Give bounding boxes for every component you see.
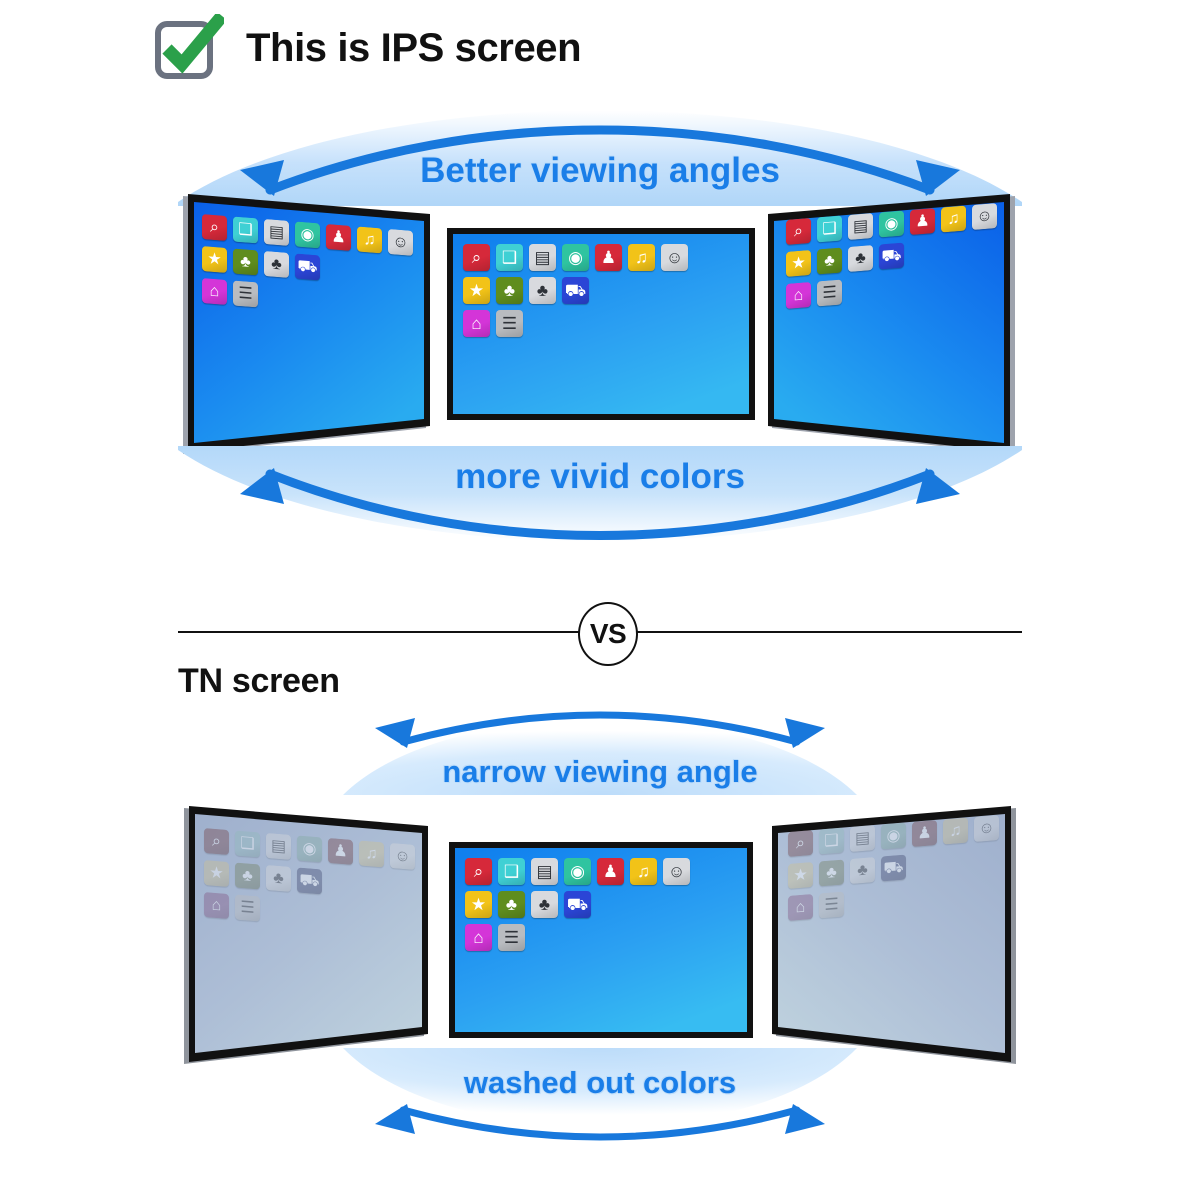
search-icon[interactable]: ⌕: [786, 218, 811, 245]
garden-icon-glyph: ♣: [506, 896, 517, 913]
music-icon[interactable]: ♫: [941, 206, 966, 233]
photos-icon[interactable]: ❑: [817, 215, 842, 242]
cart-icon[interactable]: ⛟: [881, 855, 906, 882]
notes-icon[interactable]: ☰: [819, 891, 844, 918]
cart-icon-glyph: ⛟: [567, 896, 588, 913]
music-icon-glyph: ♫: [364, 231, 376, 248]
ips-top-label: Better viewing angles: [0, 151, 1200, 191]
camera-icon[interactable]: ◉: [881, 823, 906, 850]
cart-icon[interactable]: ⛟: [564, 891, 591, 918]
calendar-icon-glyph: ▤: [269, 224, 284, 241]
photos-icon-glyph: ❑: [502, 249, 517, 266]
favorites-icon-glyph: ★: [791, 255, 805, 272]
tn-monitor-right: ⌕❑▤◉♟♫☺★♣♣⛟⌂☰: [768, 800, 1018, 1072]
cart-icon[interactable]: ⛟: [297, 867, 322, 894]
garden-icon-glyph: ♣: [824, 253, 835, 270]
calendar-icon-glyph: ▤: [271, 838, 286, 855]
photos-icon-glyph: ❑: [824, 832, 838, 849]
favorites-icon[interactable]: ★: [463, 277, 490, 304]
notes-icon-glyph: ☰: [824, 896, 838, 913]
infographic-canvas: This is IPS screen Better viewing angles: [0, 0, 1200, 1200]
cart-icon[interactable]: ⛟: [295, 253, 320, 280]
cart-icon-glyph: ⛟: [297, 258, 317, 276]
cart-icon-glyph: ⛟: [883, 859, 903, 877]
cart-icon-glyph: ⛟: [299, 872, 319, 890]
music-icon-glyph: ♫: [637, 863, 650, 880]
contacts-icon-glyph: ♟: [603, 863, 618, 880]
nature-icon-glyph: ♣: [855, 250, 866, 267]
favorites-icon[interactable]: ★: [204, 860, 229, 887]
contacts-icon[interactable]: ♟: [326, 224, 351, 251]
contacts-icon-glyph: ♟: [915, 213, 929, 230]
bank-icon[interactable]: ⌂: [463, 310, 490, 337]
camera-icon[interactable]: ◉: [297, 835, 322, 862]
favorites-icon-glyph: ★: [793, 867, 807, 884]
calendar-icon-glyph: ▤: [534, 249, 550, 266]
garden-icon[interactable]: ♣: [498, 891, 525, 918]
ips-monitor-left: ⌕❑▤◉♟♫☺★♣♣⛟⌂☰: [180, 190, 430, 458]
nature-icon[interactable]: ♣: [531, 891, 558, 918]
calendar-icon[interactable]: ▤: [529, 244, 556, 271]
cart-icon[interactable]: ⛟: [879, 243, 904, 270]
page-title: This is IPS screen: [246, 26, 581, 71]
nature-icon-glyph: ♣: [273, 870, 284, 887]
camera-icon-glyph: ◉: [887, 827, 901, 844]
photos-icon[interactable]: ❑: [235, 830, 260, 857]
photos-icon-glyph: ❑: [238, 221, 252, 238]
favorites-icon-glyph: ★: [207, 251, 221, 268]
search-icon[interactable]: ⌕: [788, 830, 813, 857]
tn-top-label: narrow viewing angle: [0, 754, 1200, 790]
bank-icon[interactable]: ⌂: [786, 282, 811, 309]
tn-section-title: TN screen: [178, 662, 340, 701]
photos-icon[interactable]: ❑: [819, 827, 844, 854]
contacts-icon[interactable]: ♟: [328, 838, 353, 865]
search-icon-glyph: ⌕: [794, 223, 803, 240]
photos-icon-glyph: ❑: [504, 863, 519, 880]
photos-icon[interactable]: ❑: [498, 858, 525, 885]
bank-icon-glyph: ⌂: [212, 897, 222, 914]
nature-icon-glyph: ♣: [271, 256, 282, 273]
nature-icon[interactable]: ♣: [848, 245, 873, 272]
music-icon-glyph: ♫: [948, 211, 960, 228]
bank-icon-glyph: ⌂: [471, 315, 481, 332]
nature-icon-glyph: ♣: [537, 282, 548, 299]
search-icon-glyph: ⌕: [472, 249, 482, 266]
nature-icon[interactable]: ♣: [266, 865, 291, 892]
notes-icon-glyph: ☰: [238, 285, 252, 302]
calendar-icon[interactable]: ▤: [531, 858, 558, 885]
garden-icon[interactable]: ♣: [233, 248, 258, 275]
search-icon[interactable]: ⌕: [204, 828, 229, 855]
favorites-icon[interactable]: ★: [786, 250, 811, 277]
profile-icon[interactable]: ☺: [388, 229, 413, 256]
music-icon-glyph: ♫: [950, 823, 962, 840]
search-icon[interactable]: ⌕: [465, 858, 492, 885]
favorites-icon[interactable]: ★: [202, 246, 227, 273]
music-icon-glyph: ♫: [366, 845, 378, 862]
profile-icon[interactable]: ☺: [661, 244, 688, 271]
music-icon-glyph: ♫: [635, 249, 648, 266]
photos-icon-glyph: ❑: [240, 835, 254, 852]
vs-badge: VS: [578, 602, 638, 666]
notes-icon[interactable]: ☰: [498, 924, 525, 951]
contacts-icon-glyph: ♟: [331, 229, 345, 246]
notes-icon[interactable]: ☰: [496, 310, 523, 337]
checkbox-checked-icon: [152, 14, 224, 82]
contacts-icon[interactable]: ♟: [910, 208, 935, 235]
calendar-icon[interactable]: ▤: [264, 219, 289, 246]
notes-icon-glyph: ☰: [502, 315, 517, 332]
profile-icon-glyph: ☺: [976, 208, 992, 225]
garden-icon-glyph: ♣: [242, 868, 253, 885]
tn-monitor-left: ⌕❑▤◉♟♫☺★♣♣⛟⌂☰: [182, 800, 430, 1072]
music-icon[interactable]: ♫: [943, 818, 968, 845]
nature-icon-glyph: ♣: [539, 896, 550, 913]
calendar-icon[interactable]: ▤: [266, 833, 291, 860]
profile-icon[interactable]: ☺: [974, 815, 999, 842]
calendar-icon-glyph: ▤: [855, 830, 870, 847]
profile-icon-glyph: ☺: [392, 234, 408, 251]
ips-monitor-center: ⌕❑▤◉♟♫☺★♣♣⛟⌂☰: [447, 228, 755, 420]
cart-icon-glyph: ⛟: [565, 282, 586, 299]
search-icon-glyph: ⌕: [212, 833, 221, 850]
camera-icon-glyph: ◉: [568, 249, 583, 266]
camera-icon[interactable]: ◉: [879, 211, 904, 238]
photos-icon[interactable]: ❑: [496, 244, 523, 271]
profile-icon-glyph: ☺: [978, 820, 994, 837]
search-icon-glyph: ⌕: [474, 863, 484, 880]
notes-icon[interactable]: ☰: [233, 280, 258, 307]
notes-icon-glyph: ☰: [822, 284, 836, 301]
contacts-icon-glyph: ♟: [601, 249, 616, 266]
search-icon-glyph: ⌕: [210, 219, 219, 236]
music-icon[interactable]: ♫: [628, 244, 655, 271]
notes-icon[interactable]: ☰: [235, 894, 260, 921]
camera-icon-glyph: ◉: [885, 215, 899, 232]
ips-header: This is IPS screen: [152, 14, 581, 82]
nature-icon[interactable]: ♣: [264, 251, 289, 278]
contacts-icon-glyph: ♟: [917, 825, 931, 842]
camera-icon-glyph: ◉: [303, 840, 317, 857]
favorites-icon-glyph: ★: [471, 896, 486, 913]
favorites-icon-glyph: ★: [469, 282, 484, 299]
nature-icon[interactable]: ♣: [529, 277, 556, 304]
photos-icon[interactable]: ❑: [233, 216, 258, 243]
bank-icon[interactable]: ⌂: [202, 278, 227, 305]
search-icon[interactable]: ⌕: [202, 214, 227, 241]
camera-icon[interactable]: ◉: [564, 858, 591, 885]
garden-icon[interactable]: ♣: [817, 247, 842, 274]
music-icon[interactable]: ♫: [357, 226, 382, 253]
contacts-icon-glyph: ♟: [333, 843, 347, 860]
garden-icon[interactable]: ♣: [819, 859, 844, 886]
camera-icon-glyph: ◉: [570, 863, 585, 880]
calendar-icon[interactable]: ▤: [848, 213, 873, 240]
profile-icon[interactable]: ☺: [972, 203, 997, 230]
ips-bottom-label: more vivid colors: [0, 457, 1200, 497]
contacts-icon[interactable]: ♟: [597, 858, 624, 885]
contacts-icon[interactable]: ♟: [912, 820, 937, 847]
camera-icon[interactable]: ◉: [295, 221, 320, 248]
nature-icon[interactable]: ♣: [850, 857, 875, 884]
search-icon[interactable]: ⌕: [463, 244, 490, 271]
notes-icon-glyph: ☰: [240, 899, 254, 916]
cart-icon-glyph: ⛟: [881, 247, 901, 265]
notes-icon[interactable]: ☰: [817, 279, 842, 306]
favorites-icon[interactable]: ★: [788, 862, 813, 889]
bank-icon-glyph: ⌂: [794, 287, 804, 304]
profile-icon-glyph: ☺: [394, 848, 410, 865]
tn-monitor-center: ⌕❑▤◉♟♫☺★♣♣⛟⌂☰: [449, 842, 753, 1038]
contacts-icon[interactable]: ♟: [595, 244, 622, 271]
garden-icon[interactable]: ♣: [496, 277, 523, 304]
bank-icon[interactable]: ⌂: [204, 892, 229, 919]
music-icon[interactable]: ♫: [630, 858, 657, 885]
calendar-icon-glyph: ▤: [536, 863, 552, 880]
calendar-icon[interactable]: ▤: [850, 825, 875, 852]
tn-bottom-label: washed out colors: [0, 1065, 1200, 1101]
favorites-icon-glyph: ★: [209, 865, 223, 882]
ips-monitor-right: ⌕❑▤◉♟♫☺★♣♣⛟⌂☰: [766, 190, 1018, 458]
bank-icon-glyph: ⌂: [210, 283, 220, 300]
bank-icon-glyph: ⌂: [796, 899, 806, 916]
cart-icon[interactable]: ⛟: [562, 277, 589, 304]
garden-icon-glyph: ♣: [504, 282, 515, 299]
calendar-icon-glyph: ▤: [853, 218, 868, 235]
profile-icon-glyph: ☺: [668, 863, 685, 880]
bank-icon[interactable]: ⌂: [465, 924, 492, 951]
camera-icon-glyph: ◉: [301, 226, 315, 243]
photos-icon-glyph: ❑: [822, 220, 836, 237]
profile-icon[interactable]: ☺: [663, 858, 690, 885]
garden-icon-glyph: ♣: [826, 865, 837, 882]
garden-icon[interactable]: ♣: [235, 862, 260, 889]
garden-icon-glyph: ♣: [240, 254, 251, 271]
search-icon-glyph: ⌕: [796, 835, 805, 852]
bank-icon[interactable]: ⌂: [788, 894, 813, 921]
profile-icon-glyph: ☺: [666, 249, 683, 266]
profile-icon[interactable]: ☺: [390, 843, 415, 870]
nature-icon-glyph: ♣: [857, 862, 868, 879]
camera-icon[interactable]: ◉: [562, 244, 589, 271]
bank-icon-glyph: ⌂: [473, 929, 483, 946]
favorites-icon[interactable]: ★: [465, 891, 492, 918]
notes-icon-glyph: ☰: [504, 929, 519, 946]
music-icon[interactable]: ♫: [359, 840, 384, 867]
